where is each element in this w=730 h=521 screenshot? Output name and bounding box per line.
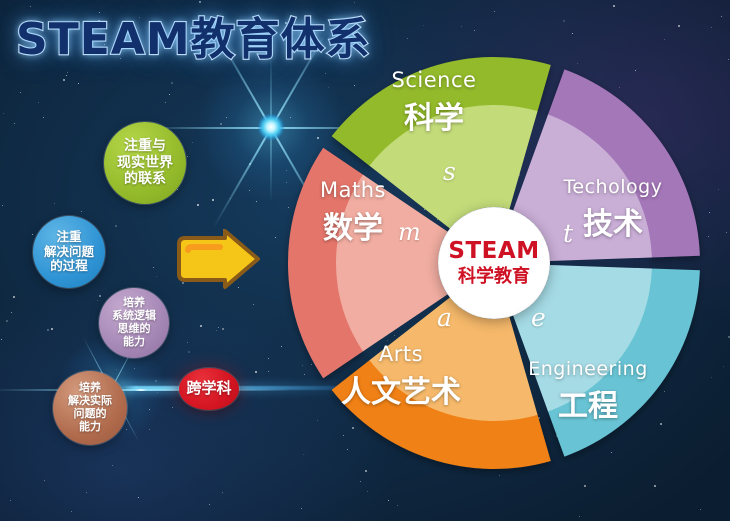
lens-flare-star-icon <box>270 126 271 127</box>
hub-subtitle: 科学教育 <box>458 268 530 286</box>
bubble-label: 培养 解决实际 问题的 能力 <box>64 382 116 434</box>
bubble-interdisciplinary[interactable]: 跨学科 <box>179 368 239 410</box>
bubble-problem-solving-process[interactable]: 注重 解决问题 的过程 <box>33 216 105 288</box>
bubble-systematic-logic[interactable]: 培养 系统逻辑 思维的 能力 <box>99 288 169 358</box>
steam-wheel: Science 科学 Techology 技术 Engineering 工程 A… <box>288 57 700 469</box>
bubble-label: 跨学科 <box>182 380 235 398</box>
right-arrow-icon <box>173 228 263 290</box>
bubble-reality-connection[interactable]: 注重与 现实世界 的联系 <box>104 122 186 204</box>
center-hub[interactable]: STEAM 科学教育 <box>438 207 550 319</box>
bubble-practical-ability[interactable]: 培养 解决实际 问题的 能力 <box>53 371 127 445</box>
bubble-label: 培养 系统逻辑 思维的 能力 <box>108 297 160 349</box>
hub-title: STEAM <box>448 240 539 263</box>
bubble-label: 注重与 现实世界 的联系 <box>113 138 177 188</box>
bubble-label: 注重 解决问题 的过程 <box>40 230 98 274</box>
page-title: STEAM教育体系 <box>16 18 371 62</box>
steam-infographic: STEAM教育体系 注重与 现实世界 的联系 注重 解决问题 的过程 培养 系统… <box>0 0 730 521</box>
